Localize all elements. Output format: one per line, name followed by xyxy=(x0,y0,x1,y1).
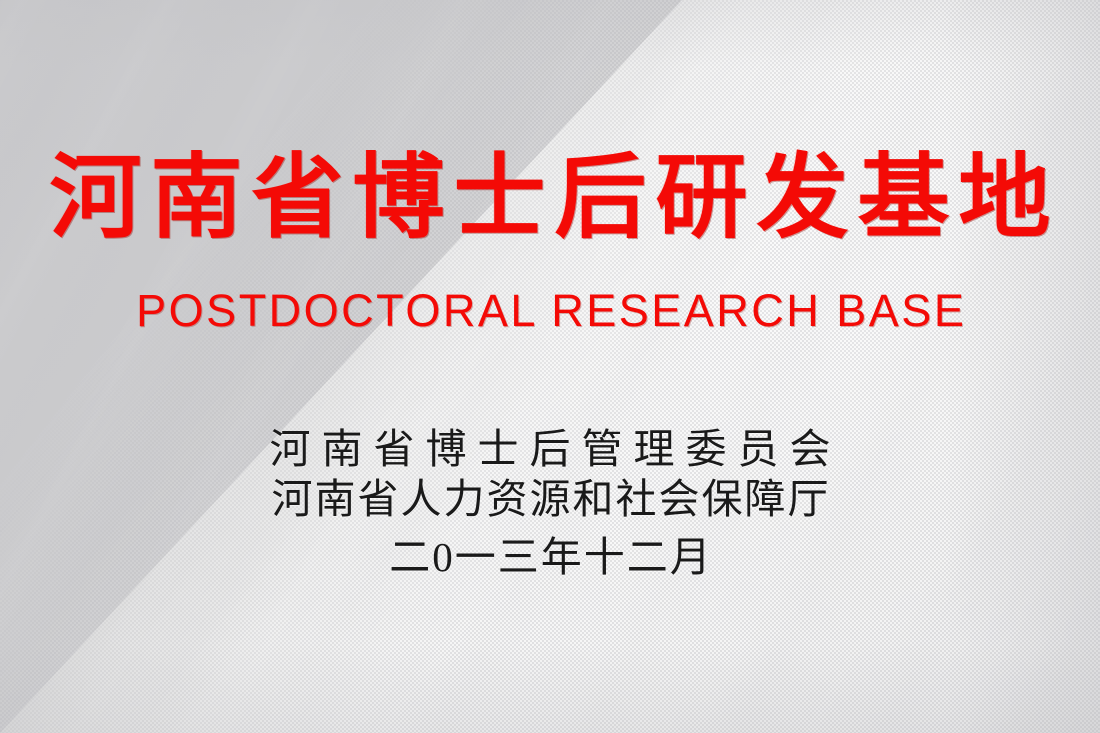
plaque-issuer-block: 河南省博士后管理委员会 河南省人力资源和社会保障厅 二0一三年十二月 xyxy=(0,424,1100,582)
plaque-title-english: POSTDOCTORAL RESEARCH BASE xyxy=(0,288,1100,333)
plaque-issue-date: 二0一三年十二月 xyxy=(0,532,1100,582)
plaque-issuer-line-1: 河南省博士后管理委员会 xyxy=(0,424,1100,474)
plaque-title-chinese: 河南省博士后研发基地 xyxy=(0,152,1100,244)
plaque-issuer-line-2: 河南省人力资源和社会保障厅 xyxy=(0,474,1100,524)
plaque-content: 河南省博士后研发基地 POSTDOCTORAL RESEARCH BASE 河南… xyxy=(0,0,1100,733)
postdoctoral-research-base-plaque: 河南省博士后研发基地 POSTDOCTORAL RESEARCH BASE 河南… xyxy=(0,0,1100,733)
